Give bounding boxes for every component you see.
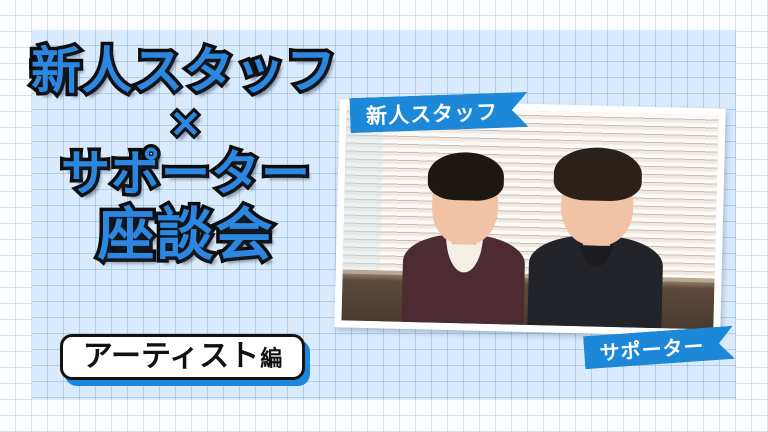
series-badge-pill: アーティスト 編 [60,334,305,380]
series-badge: アーティスト 編 [60,334,305,380]
series-badge-suffix-label: 編 [260,349,282,371]
thumbnail-canvas: 新人スタッフ サポーター 新人スタッフ × サポーター 座談会 アーティスト 編 [0,0,768,432]
headline-line-new-staff: 新人スタッフ [0,46,372,96]
person-supporter [527,150,665,329]
interview-photo [341,106,718,329]
headline-cross-symbol: × [0,103,372,143]
headline-line-roundtable: 座談会 [0,207,372,264]
ribbon-label-new-staff: 新人スタッフ [349,92,528,133]
headline-block: 新人スタッフ × サポーター 座談会 [0,46,372,264]
person-right-hair [553,147,643,202]
series-badge-main-label: アーティスト [83,342,259,372]
headline-line-supporter: サポーター [0,149,372,198]
person-left-hair [427,151,504,201]
interview-photo-card [334,99,725,336]
person-new-staff [401,151,528,325]
